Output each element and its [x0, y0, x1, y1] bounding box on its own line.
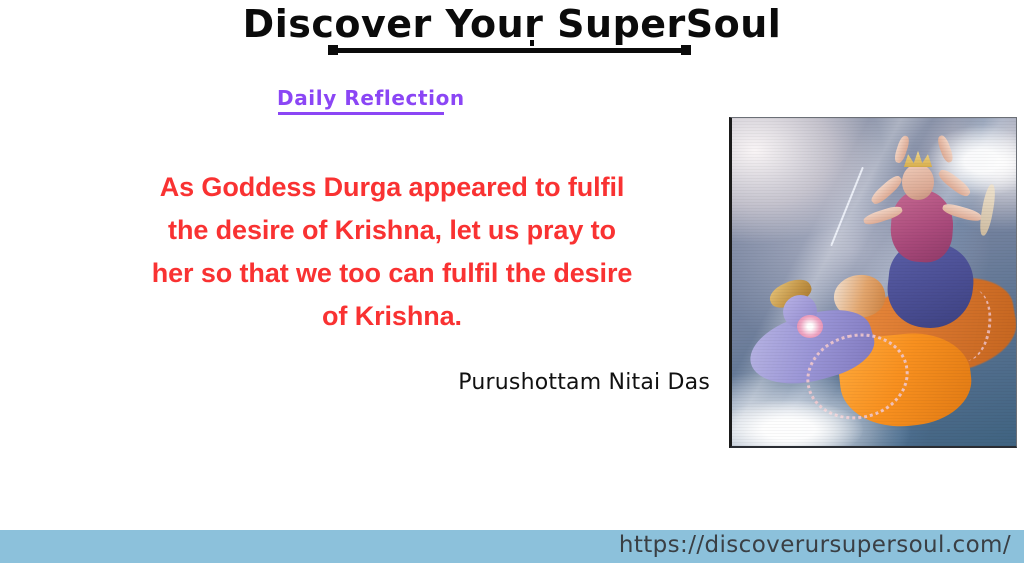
quote-line: As Goddess Durga appeared to fulfil — [74, 166, 710, 209]
quote-line: the desire of Krishna, let us pray to — [74, 209, 710, 252]
quote-line: her so that we too can fulfil the desire — [74, 252, 710, 295]
slide-canvas: Discover Your SuperSoul Daily Reflection… — [0, 0, 1024, 577]
title-rule-tick — [530, 40, 534, 46]
quote-line: of Krishna. — [74, 295, 710, 338]
title-underline-rule — [331, 48, 687, 53]
artwork-grain-overlay — [732, 118, 1016, 446]
quote-author: Purushottam Nitai Das — [74, 370, 710, 395]
section-label-underline — [278, 112, 444, 115]
quote-text: As Goddess Durga appeared to fulfil the … — [74, 166, 710, 338]
rule-handle-left[interactable] — [328, 45, 338, 55]
page-title: Discover Your SuperSoul — [0, 2, 1024, 46]
footer-website-url[interactable]: https://discoverursupersoul.com/ — [0, 532, 1011, 558]
deity-artwork-image — [729, 117, 1017, 448]
rule-handle-right[interactable] — [681, 45, 691, 55]
section-label-daily-reflection: Daily Reflection — [277, 86, 465, 110]
